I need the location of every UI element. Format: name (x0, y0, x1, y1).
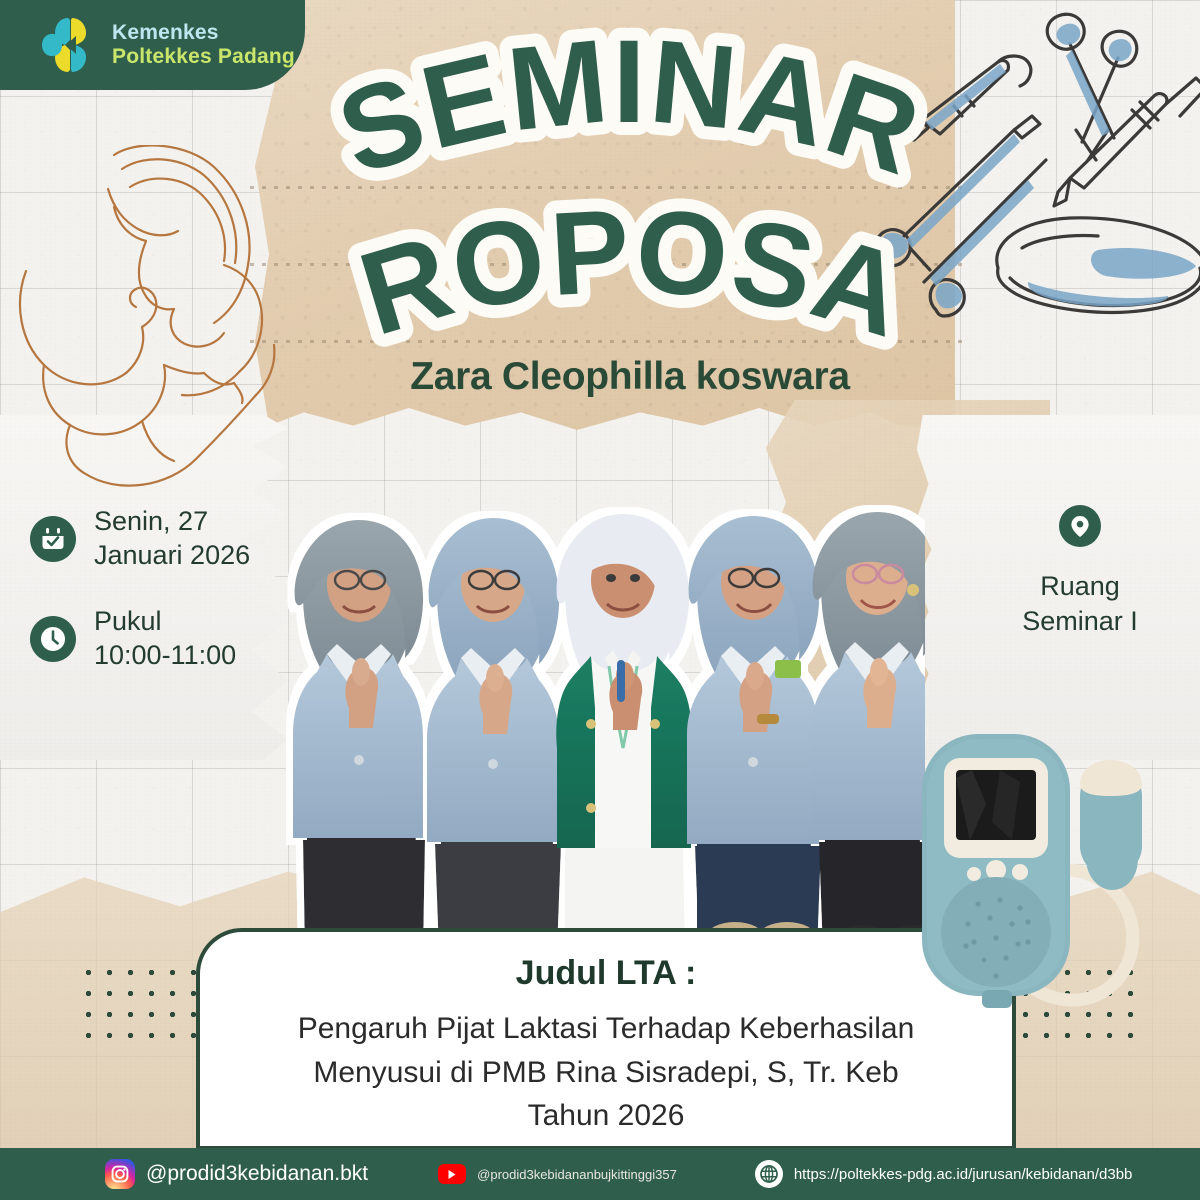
speaker-name: Zara Cleophilla koswara (300, 355, 960, 399)
fetal-doppler-illustration (900, 718, 1200, 1058)
logo-text: Kemenkes Poltekkes Padang (112, 21, 295, 68)
instagram-handle-text: @prodid3kebidanan.bkt (146, 1162, 368, 1186)
time-text: Pukul 10:00-11:00 (94, 605, 236, 673)
instagram-icon[interactable] (105, 1159, 135, 1189)
judul-lta-heading: Judul LTA : (246, 954, 966, 993)
date-row: Senin, 27 Januari 2026 (30, 505, 250, 573)
judul-lta-body: Pengaruh Pijat Laktasi Terhadap Keberhas… (246, 1007, 966, 1138)
logo-line-1: Kemenkes (112, 21, 295, 45)
venue-block: Ruang Seminar I (985, 505, 1175, 639)
youtube-icon[interactable] (438, 1164, 466, 1184)
date-text: Senin, 27 Januari 2026 (94, 505, 250, 573)
judul-line-3: Tahun 2026 (528, 1099, 685, 1132)
globe-icon[interactable] (755, 1160, 783, 1188)
title-line-1: SEMINAR (330, 18, 930, 201)
time-line-1: Pukul (94, 606, 162, 636)
youtube-handle[interactable]: @prodid3kebidananbujkittinggi357 (438, 1164, 677, 1184)
calendar-icon (30, 516, 76, 562)
venue-line-1: Ruang (1040, 571, 1120, 601)
website-link[interactable]: https://poltekkes-pdg.ac.id/jurusan/kebi… (755, 1160, 1133, 1188)
logo-line-2: Poltekkes Padang (112, 45, 295, 69)
judul-lta-card: Judul LTA : Pengaruh Pijat Laktasi Terha… (196, 928, 1016, 1150)
venue-text: Ruang Seminar I (985, 569, 1175, 639)
kemenkes-flower-logo-icon (40, 16, 100, 74)
date-line-2: Januari 2026 (94, 540, 250, 570)
dot-grid-left (78, 962, 203, 1050)
youtube-handle-text: @prodid3kebidananbujkittinggi357 (477, 1167, 677, 1182)
time-row: Pukul 10:00-11:00 (30, 605, 236, 673)
five-women-thumbs-up-photo (265, 408, 925, 953)
clock-icon (30, 616, 76, 662)
footer-bar: @prodid3kebidanan.bkt @prodid3kebidananb… (0, 1148, 1200, 1200)
kemenkes-logo-banner: Kemenkes Poltekkes Padang (0, 0, 305, 90)
judul-line-1: Pengaruh Pijat Laktasi Terhadap Keberhas… (298, 1012, 915, 1045)
poster-title-block: SEMINAR SEMINAR PROPOSAL PROPOSAL (330, 18, 930, 358)
time-line-2: 10:00-11:00 (94, 640, 236, 670)
title-arched-text: SEMINAR SEMINAR PROPOSAL PROPOSAL (330, 18, 930, 358)
instagram-handle[interactable]: @prodid3kebidanan.bkt (105, 1159, 368, 1189)
location-pin-icon (1059, 505, 1101, 547)
venue-line-2: Seminar I (1022, 606, 1138, 636)
website-url-text: https://poltekkes-pdg.ac.id/jurusan/kebi… (794, 1166, 1133, 1183)
judul-line-2: Menyusui di PMB Rina Sisradepi, S, Tr. K… (313, 1056, 898, 1089)
date-line-1: Senin, 27 (94, 506, 208, 536)
seminar-poster: Kemenkes Poltekkes Padang SEMINAR SEMINA… (0, 0, 1200, 1200)
